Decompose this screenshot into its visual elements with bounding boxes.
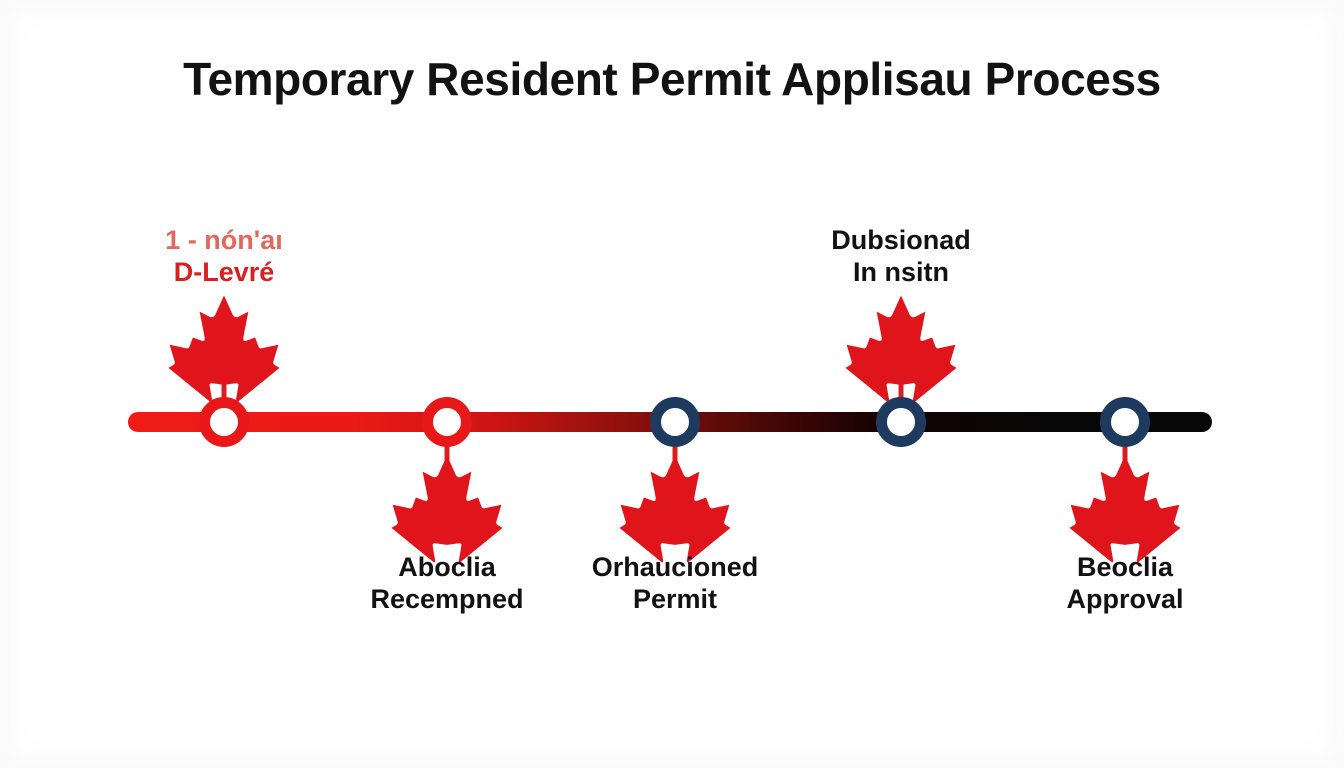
step-label-line1: Aboclia: [370, 552, 523, 584]
step-label-line2: Recempned: [370, 584, 523, 616]
step-label-line2: D-Levré: [165, 257, 282, 289]
timeline-step-label-2: AbocliaRecempned: [370, 552, 523, 616]
infographic-canvas: Temporary Resident Permit Applisau Proce…: [0, 0, 1344, 768]
maple-leaf-icon: [385, 452, 509, 564]
maple-leaf-icon: [613, 452, 737, 564]
timeline-step-label-3: OrhaucionedPermit: [592, 552, 759, 616]
maple-leaf-icon: [1063, 452, 1187, 564]
step-label-line1: Orhaucioned: [592, 552, 759, 584]
timeline-node-2[interactable]: [422, 397, 472, 447]
step-label-line1: 1 - nón'aı: [165, 225, 282, 257]
timeline-step-label-1: 1 - nón'aıD-Levré: [165, 225, 282, 289]
timeline-step-label-5: BeocliaApproval: [1066, 552, 1183, 616]
timeline-step-label-4: DubsionadIn nsitn: [831, 225, 971, 289]
step-label-line2: Permit: [592, 584, 759, 616]
timeline-node-4[interactable]: [876, 397, 926, 447]
step-label-line2: Approval: [1066, 584, 1183, 616]
maple-leaf-icon: [839, 292, 963, 404]
step-label-line1: Beoclia: [1066, 552, 1183, 584]
timeline-node-3[interactable]: [650, 397, 700, 447]
timeline-node-5[interactable]: [1100, 397, 1150, 447]
page-title: Temporary Resident Permit Applisau Proce…: [0, 52, 1344, 106]
step-label-line2: In nsitn: [831, 257, 971, 289]
step-label-line1: Dubsionad: [831, 225, 971, 257]
timeline-node-1[interactable]: [199, 397, 249, 447]
maple-leaf-icon: [162, 292, 286, 404]
